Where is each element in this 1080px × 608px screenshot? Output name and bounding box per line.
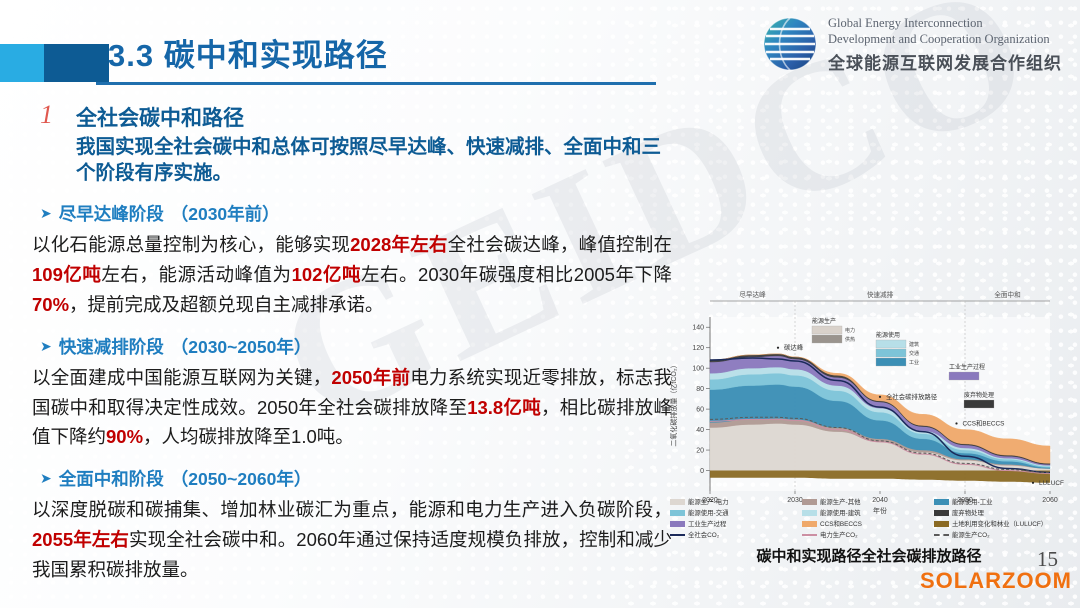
header-accent-block-light	[0, 44, 44, 82]
section-number: 1	[40, 100, 53, 130]
paragraph-text: ，提前完成及超额兑现自主减排承诺。	[69, 294, 384, 315]
inchart-legend-item: 供热	[845, 336, 855, 343]
bullet-arrow-icon: ➤	[40, 338, 52, 355]
legend-row: 工业生产过程CCS和BECCS土地利用变化和林业（LULUCF）	[670, 519, 1062, 528]
section-heading-row: 1 全社会碳中和路径	[22, 100, 672, 130]
inchart-legend-group: 废弃物处理	[964, 391, 994, 399]
inchart-legend-item: 电力	[845, 327, 855, 334]
inchart-legend-group: 工业生产过程	[949, 363, 985, 371]
chart-svg: 尽早达峰快速减排全面中和0204060801001201402020203020…	[664, 283, 1064, 533]
emission-pathway-chart: 尽早达峰快速减排全面中和0204060801001201402020203020…	[664, 283, 1064, 571]
bullet-heading-2: ➤全面中和阶段（2050~2060年）	[40, 466, 672, 491]
page-title: 3.3 碳中和实现路径	[108, 30, 388, 75]
svg-text:80: 80	[696, 386, 704, 393]
chart-annotation-2: CCS和BECCS	[963, 418, 1005, 427]
bullet-heading-label: 尽早达峰阶段	[59, 201, 164, 226]
slide-content: 1 全社会碳中和路径 我国实现全社会碳中和总体可按照尽早达峰、快速减排、全面中和…	[22, 100, 672, 585]
legend-item: CCS和BECCS	[802, 519, 930, 528]
svg-text:20: 20	[696, 447, 704, 454]
paragraph-text: 左右。2030年碳强度相比2005年下降	[361, 264, 672, 285]
header-underline	[96, 82, 656, 85]
legend-swatch	[802, 521, 817, 527]
legend-item: 能源生产CO₂	[934, 530, 1062, 539]
legend-label: 能源使用-建筑	[820, 508, 860, 517]
svg-text:120: 120	[692, 345, 704, 352]
slide-canvas: GEIDCO 3.3 碳中和实现路径 Gl	[0, 0, 1080, 608]
paragraph-0: 以化石能源总量控制为核心，能够实现2028年左右全社会碳达峰，峰值控制在109亿…	[32, 230, 672, 320]
bullet-heading-0: ➤尽早达峰阶段（2030年前）	[40, 201, 672, 226]
legend-label: 能源使用-交通	[688, 508, 728, 517]
paragraph-text: ，人均碳排放降至1.0吨。	[143, 426, 354, 447]
legend-swatch	[670, 510, 685, 516]
legend-item: 工业生产过程	[670, 519, 798, 528]
legend-swatch	[934, 510, 949, 516]
legend-label: 废弃物处理	[952, 508, 984, 517]
bullet-heading-1: ➤快速减排阶段（2030~2050年）	[40, 334, 672, 359]
highlight-value: 2055年左右	[32, 529, 129, 550]
legend-swatch	[670, 534, 685, 536]
paragraph-text: 左右，能源活动峰值为	[101, 264, 291, 285]
chart-annotation-1: 全社会碳排放路径	[886, 392, 938, 401]
inchart-legend-item: 交通	[909, 350, 919, 357]
svg-text:60: 60	[696, 407, 704, 414]
bullet-heading-label: 全面中和阶段	[59, 466, 164, 491]
paragraph-text: 全社会碳达峰，峰值控制在	[448, 234, 672, 255]
chart-legend: 能源生产-电力能源生产-其他能源使用-工业能源使用-交通能源使用-建筑废弃物处理…	[670, 497, 1062, 541]
legend-item: 能源生产-其他	[802, 497, 930, 506]
highlight-value: 2050年前	[331, 367, 410, 388]
legend-swatch	[802, 499, 817, 505]
legend-label: 能源生产-电力	[688, 497, 728, 506]
legend-item: 能源生产-电力	[670, 497, 798, 506]
content-blocks: ➤尽早达峰阶段（2030年前）以化石能源总量控制为核心，能够实现2028年左右全…	[22, 201, 672, 586]
chart-annotation-3: LULUCF	[1039, 480, 1064, 487]
legend-swatch	[670, 521, 685, 527]
inchart-legend-group: 能源生产	[812, 317, 836, 325]
legend-label: 能源生产-其他	[820, 497, 860, 506]
phase-label-0: 尽早达峰	[739, 290, 766, 299]
paragraph-2: 以深度脱碳和碳捕集、增加林业碳汇为重点，能源和电力生产进入负碳阶段，2055年左…	[32, 495, 672, 585]
bullet-heading-years: （2050~2060年）	[171, 466, 312, 491]
legend-label: 全社会CO₂	[688, 530, 719, 539]
legend-row: 能源生产-电力能源生产-其他能源使用-工业	[670, 497, 1062, 506]
bullet-heading-label: 快速减排阶段	[59, 334, 164, 359]
organization-logo: Global Energy Interconnection Developmen…	[760, 12, 1070, 78]
bullet-arrow-icon: ➤	[40, 470, 52, 487]
highlight-value: 102亿吨	[292, 264, 361, 285]
highlight-value: 90%	[106, 426, 143, 447]
legend-item: 全社会CO₂	[670, 530, 798, 539]
phase-label-1: 快速减排	[867, 290, 894, 299]
legend-label: 土地利用变化和林业（LULUCF）	[952, 519, 1047, 528]
inchart-legend-item: 工业	[909, 359, 919, 366]
section-subtitle: 我国实现全社会碳中和总体可按照尽早达峰、快速减排、全面中和三个阶段有序实施。	[76, 134, 672, 187]
bullet-heading-years: （2030~2050年）	[171, 334, 312, 359]
svg-text:二氧化碳排放量（亿tCO₂）: 二氧化碳排放量（亿tCO₂）	[669, 361, 678, 446]
legend-swatch	[802, 510, 817, 516]
legend-label: 能源生产CO₂	[952, 530, 990, 539]
paragraph-text: 以全面建成中国能源互联网为关键，	[32, 367, 331, 388]
highlight-value: 109亿吨	[32, 264, 101, 285]
legend-item: 能源使用-交通	[670, 508, 798, 517]
legend-row: 能源使用-交通能源使用-建筑废弃物处理	[670, 508, 1062, 517]
phase-label-2: 全面中和	[994, 290, 1020, 299]
solarzoom-watermark: SOLARZOOM	[920, 568, 1072, 594]
legend-label: 能源使用-工业	[952, 497, 992, 506]
header-accent-block-dark	[44, 44, 109, 82]
svg-text:140: 140	[692, 325, 704, 332]
legend-swatch	[802, 534, 817, 536]
svg-text:0: 0	[700, 468, 704, 475]
chart-annotation-0: 碳达峰	[784, 343, 804, 352]
bullet-arrow-icon: ➤	[40, 205, 52, 222]
paragraph-text: 以化石能源总量控制为核心，能够实现	[32, 234, 350, 255]
legend-swatch	[934, 521, 949, 527]
legend-swatch	[670, 499, 685, 505]
svg-text:100: 100	[692, 366, 704, 373]
legend-swatch	[934, 534, 949, 536]
globe-icon	[760, 14, 820, 74]
legend-row: 全社会CO₂电力生产CO₂能源生产CO₂	[670, 530, 1062, 539]
legend-label: 工业生产过程	[688, 519, 726, 528]
highlight-value: 70%	[32, 294, 69, 315]
logo-chinese-name: 全球能源互联网发展合作组织	[828, 49, 1062, 74]
svg-text:40: 40	[696, 427, 704, 434]
bullet-heading-years: （2030年前）	[171, 201, 280, 226]
highlight-value: 13.8亿吨	[467, 397, 541, 418]
logo-english-line2: Development and Cooperation Organization	[828, 32, 1050, 47]
chart-caption: 碳中和实现路径全社会碳排放路径	[674, 545, 1064, 566]
legend-item: 土地利用变化和林业（LULUCF）	[934, 519, 1062, 528]
legend-item: 能源使用-工业	[934, 497, 1062, 506]
legend-item: 能源使用-建筑	[802, 508, 930, 517]
inchart-legend-group: 能源使用	[876, 331, 900, 339]
legend-label: CCS和BECCS	[820, 519, 862, 528]
paragraph-text: 以深度脱碳和碳捕集、增加林业碳汇为重点，能源和电力生产进入负碳阶段，	[32, 499, 672, 520]
logo-english-line1: Global Energy Interconnection	[828, 16, 983, 31]
paragraph-1: 以全面建成中国能源互联网为关键，2050年前电力系统实现近零排放，标志我国碳中和…	[32, 363, 672, 453]
section-title: 全社会碳中和路径	[76, 102, 244, 132]
highlight-value: 2028年左右	[350, 234, 448, 255]
inchart-legend-item: 建筑	[909, 341, 919, 348]
legend-item: 废弃物处理	[934, 508, 1062, 517]
legend-swatch	[934, 499, 949, 505]
legend-label: 电力生产CO₂	[820, 530, 858, 539]
legend-item: 电力生产CO₂	[802, 530, 930, 539]
